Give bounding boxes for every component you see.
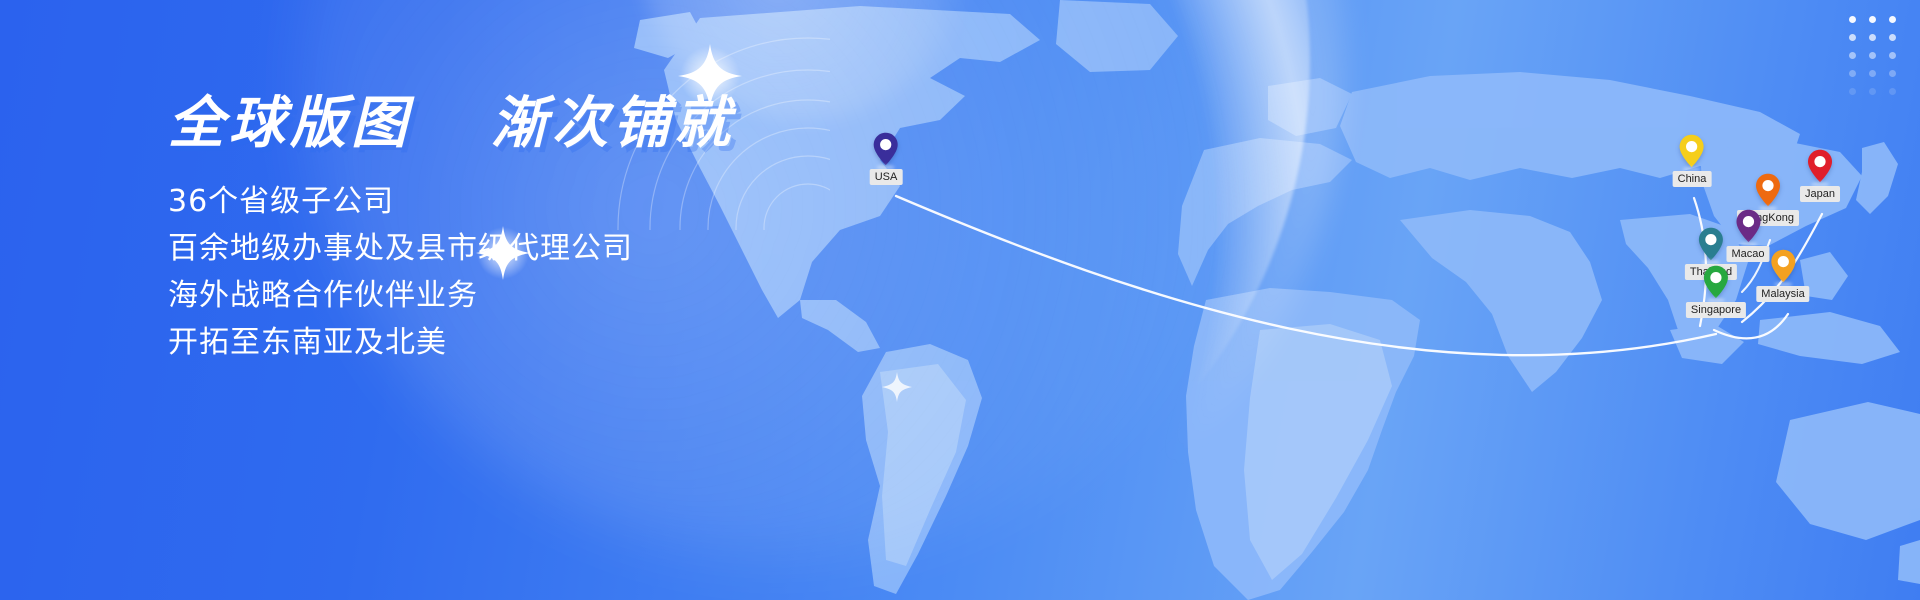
map-marker-label: Japan [1800, 186, 1840, 202]
banner-root: 全球版图 渐次铺就 36个省级子公司 百余地级办事处及县市级代理公司 海外战略合… [0, 0, 1920, 600]
map-marker-label: China [1673, 171, 1712, 187]
map-marker-usa[interactable]: USA [870, 132, 903, 185]
map-marker-japan[interactable]: Japan [1800, 149, 1840, 202]
location-pin-icon [873, 132, 899, 166]
bullet-line-3: 海外战略合作伙伴业务 [168, 272, 928, 319]
location-pin-icon [1679, 134, 1705, 168]
location-pin-icon [1698, 227, 1724, 261]
headline-part-2: 渐次铺就 [491, 91, 735, 156]
banner-copy: 全球版图 渐次铺就 36个省级子公司 百余地级办事处及县市级代理公司 海外战略合… [168, 96, 928, 366]
bullet-line-1: 36个省级子公司 [168, 178, 928, 225]
location-pin-icon [1807, 149, 1833, 183]
headline-part-1: 全球版图 [168, 91, 412, 156]
bullet-line-2: 百余地级办事处及县市级代理公司 [168, 225, 928, 272]
map-marker-label: Malaysia [1756, 286, 1809, 302]
map-marker-label: USA [870, 169, 903, 185]
map-marker-label: Singapore [1686, 302, 1746, 318]
bullet-line-4: 开拓至东南亚及北美 [168, 319, 928, 366]
location-pin-icon [1770, 249, 1796, 283]
location-pin-icon [1755, 173, 1781, 207]
banner-bullet-list: 36个省级子公司 百余地级办事处及县市级代理公司 海外战略合作伙伴业务 开拓至东… [168, 178, 928, 366]
location-pin-icon [1735, 209, 1761, 243]
dot-grid-icon [1842, 10, 1902, 100]
map-marker-malaysia[interactable]: Malaysia [1756, 249, 1809, 302]
map-marker-china[interactable]: China [1673, 134, 1712, 187]
map-marker-singapore[interactable]: Singapore [1686, 265, 1746, 318]
page-title: 全球版图 渐次铺就 [168, 96, 928, 152]
location-pin-icon [1703, 265, 1729, 299]
